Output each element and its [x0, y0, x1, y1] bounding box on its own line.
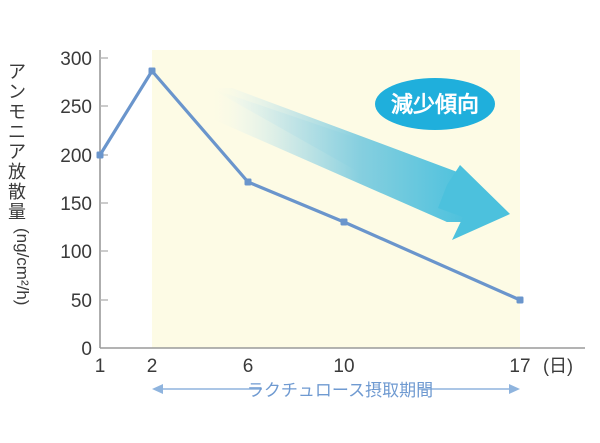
- y-tick-label: 300: [60, 49, 92, 70]
- y-axis-label-char: ア: [4, 142, 30, 162]
- data-point: [97, 152, 104, 159]
- y-axis-label-char: ン: [4, 82, 30, 102]
- x-tick-label: 2: [147, 356, 158, 377]
- x-tick-label: 17: [509, 356, 530, 377]
- y-tick-label: 0: [81, 339, 92, 360]
- data-point: [149, 68, 156, 75]
- data-point: [245, 179, 252, 186]
- x-tick-label: 10: [333, 356, 354, 377]
- x-axis-unit-label: (日): [543, 356, 573, 376]
- y-tick-label: 50: [71, 291, 92, 312]
- y-axis-ticks: [100, 58, 108, 300]
- y-axis-label-char: ア: [4, 62, 30, 82]
- y-tick-label: 200: [60, 146, 92, 167]
- y-axis-label-char: 放: [4, 162, 30, 182]
- data-point: [341, 219, 348, 226]
- y-axis-unit-label: (ng/cm²/h): [12, 228, 32, 258]
- y-axis-label: ア ン モ ニ ア 放 散 量: [4, 62, 30, 222]
- y-tick-label: 250: [60, 97, 92, 118]
- trend-callout-label: 減少傾向: [391, 92, 479, 117]
- intake-period-label: ラクチュロース摂取期間: [247, 381, 433, 400]
- trend-callout: 減少傾向: [375, 78, 495, 130]
- y-axis-label-char: ニ: [4, 122, 30, 142]
- x-tick-label: 6: [243, 356, 254, 377]
- x-tick-label: 1: [95, 356, 106, 377]
- y-axis-label-char: モ: [4, 102, 30, 122]
- chart-container: 300 250 200 150 100 50 0 1 2 6 10 17 (日): [0, 0, 600, 443]
- data-point: [517, 297, 524, 304]
- y-axis-label-char: 散: [4, 182, 30, 202]
- x-axis-tick-labels: 1 2 6 10 17 (日): [95, 356, 573, 377]
- intake-period-annotation: ラクチュロース摂取期間: [152, 381, 520, 400]
- y-tick-label: 100: [60, 242, 92, 263]
- y-axis-tick-labels: 300 250 200 150 100 50 0: [60, 49, 92, 360]
- y-axis-label-char: 量: [4, 202, 30, 222]
- y-tick-label: 150: [60, 194, 92, 215]
- ammonia-emission-line-chart: 300 250 200 150 100 50 0 1 2 6 10 17 (日): [0, 0, 600, 443]
